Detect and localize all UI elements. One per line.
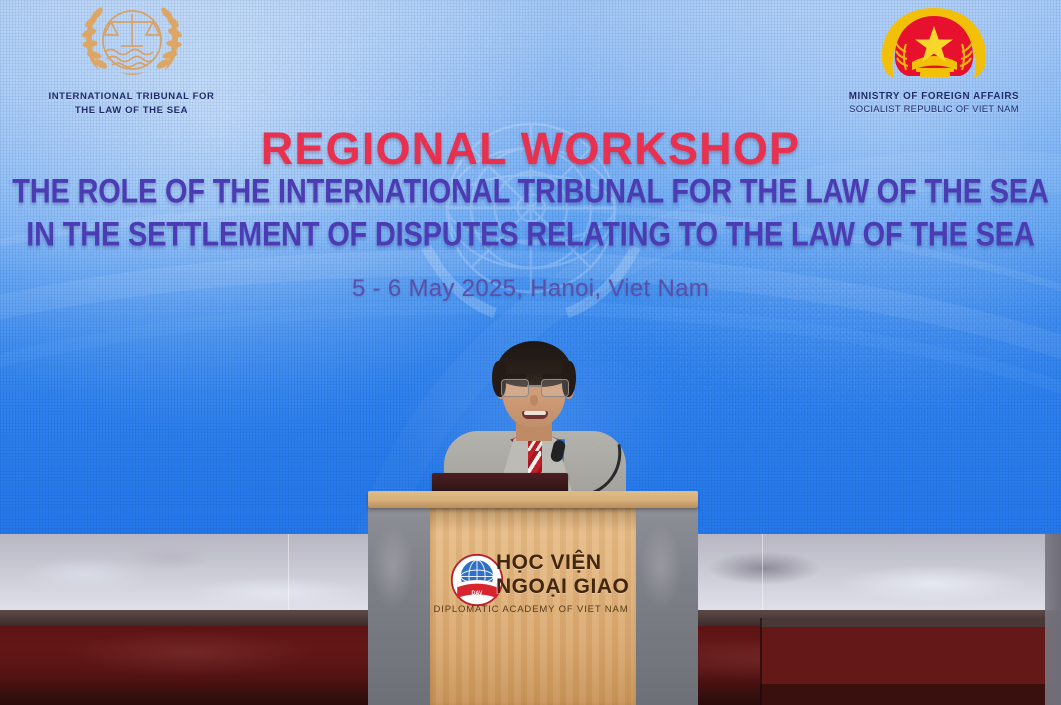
podium-title-line2: NGOẠI GIAO — [496, 575, 646, 599]
event-subtitle-line2-text: IN THE SETTLEMENT OF DISPUTES RELATING T… — [26, 216, 1034, 255]
podium: DAV HỌC VIỆN NGOẠI GIAO DIPLOMATIC ACADE… — [368, 491, 698, 705]
vietnam-emblem-block: MINISTRY OF FOREIGN AFFAIRS SOCIALIST RE… — [829, 4, 1039, 115]
event-main-title: REGIONAL WORKSHOP — [0, 123, 1061, 175]
svg-text:DAV: DAV — [472, 590, 483, 596]
speaker-glasses — [500, 379, 568, 395]
glasses-bridge — [527, 385, 541, 387]
event-subtitle-line1: THE ROLE OF THE INTERNATIONAL TRIBUNAL F… — [0, 176, 1061, 209]
event-subtitle-line1-text: THE ROLE OF THE INTERNATIONAL TRIBUNAL F… — [12, 173, 1049, 212]
itlos-caption-line1: INTERNATIONAL TRIBUNAL FOR — [24, 91, 239, 103]
event-date-location: 5 - 6 May 2025, Hanoi, Viet Nam — [0, 275, 1061, 303]
itlos-caption-line2: THE LAW OF THE SEA — [24, 105, 239, 117]
podium-title-line1: HỌC VIỆN — [496, 551, 646, 575]
speaker-teeth — [524, 411, 546, 415]
marble-seam-2 — [762, 534, 763, 610]
speaker-eyebrow-left — [504, 374, 526, 378]
vietnam-caption-line1: MINISTRY OF FOREIGN AFFAIRS — [829, 91, 1039, 103]
raised-platform-step — [760, 618, 1061, 705]
itlos-logo-icon — [67, 2, 197, 84]
vietnam-national-emblem-icon — [872, 4, 997, 86]
platform-edge-line — [760, 618, 762, 705]
itlos-logo-block: INTERNATIONAL TRIBUNAL FOR THE LAW OF TH… — [24, 2, 239, 117]
glasses-lens-left — [501, 379, 529, 397]
laptop-on-podium — [432, 473, 568, 493]
event-subtitle-line2: IN THE SETTLEMENT OF DISPUTES RELATING T… — [0, 219, 1061, 252]
glasses-lens-right — [541, 379, 569, 397]
podium-subtitle: DIPLOMATIC ACADEMY OF VIET NAM — [416, 604, 646, 615]
vietnam-caption-line2: SOCIALIST REPUBLIC OF VIET NAM — [829, 103, 1039, 115]
podium-front-shadow — [430, 508, 636, 532]
speaker-necktie-knot — [526, 441, 543, 451]
wall-corner-strip — [1045, 534, 1061, 705]
podium-top-surface — [368, 491, 698, 508]
podium-title-block: HỌC VIỆN NGOẠI GIAO — [496, 551, 646, 599]
speaker-nose — [530, 395, 538, 406]
conference-photo: INTERNATIONAL TRIBUNAL FOR THE LAW OF TH… — [0, 0, 1061, 705]
marble-seam-1 — [288, 534, 289, 610]
